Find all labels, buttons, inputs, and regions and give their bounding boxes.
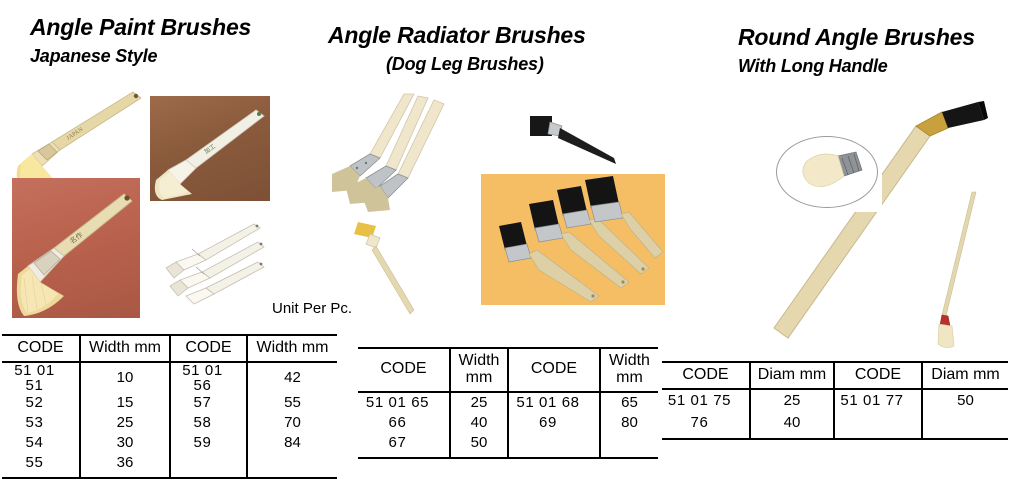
cell-width: 50 xyxy=(450,433,508,458)
cell-code: 52 xyxy=(2,393,80,413)
column-header-width-1: Width mm xyxy=(450,348,508,392)
table-bottom-rule xyxy=(2,478,337,499)
cell-width: 30 xyxy=(80,433,170,453)
unit-per-piece-note: Unit Per Pc. xyxy=(272,300,352,317)
cell-width: 84 xyxy=(247,433,337,453)
table-row: 54 30 59 84 xyxy=(2,433,337,453)
table-row: 66 40 69 80 xyxy=(358,413,658,433)
photo-radiator-brushes-trio xyxy=(330,92,490,222)
column-header-code-1: CODE xyxy=(662,362,750,389)
cell-code xyxy=(170,453,247,478)
section-subtitle-angle-paint: Japanese Style xyxy=(30,46,157,67)
cell-width: 55 xyxy=(247,393,337,413)
cell-code: 51 01 75 xyxy=(662,389,750,412)
table-row: 52 15 57 55 xyxy=(2,393,337,413)
cell-code: 51 01 56 xyxy=(170,362,247,393)
cell-width: 15 xyxy=(80,393,170,413)
table-bottom-rule xyxy=(662,439,1008,462)
column-header-diam-1: Diam mm xyxy=(750,362,834,389)
cell-diam xyxy=(922,412,1008,439)
table-row: 51 01 75 25 51 01 77 50 xyxy=(662,389,1008,412)
cell-width: 80 xyxy=(600,413,658,433)
column-header-code-2: CODE xyxy=(170,335,247,362)
cell-width: 40 xyxy=(450,413,508,433)
table-row: 55 36 xyxy=(2,453,337,478)
table-row: 67 50 xyxy=(358,433,658,458)
photo-angle-paint-brush-red-table: 名作 xyxy=(12,178,140,318)
cell-code: 51 01 68 xyxy=(508,392,600,413)
cell-code: 51 01 51 xyxy=(2,362,80,393)
photo-radiator-brush-black xyxy=(512,112,622,174)
column-header-code-1: CODE xyxy=(2,335,80,362)
section-subtitle-round-angle: With Long Handle xyxy=(738,56,888,77)
cell-code: 55 xyxy=(2,453,80,478)
cell-diam: 50 xyxy=(922,389,1008,412)
column-header-width-2: Width mm xyxy=(247,335,337,362)
cell-code: 66 xyxy=(358,413,450,433)
cell-width: 70 xyxy=(247,413,337,433)
column-header-diam-2: Diam mm xyxy=(922,362,1008,389)
cell-code: 51 01 65 xyxy=(358,392,450,413)
photo-angle-paint-brushes-trio xyxy=(158,216,268,306)
cell-diam: 40 xyxy=(750,412,834,439)
inset-oval-outline xyxy=(776,136,878,208)
cell-width: 42 xyxy=(247,362,337,393)
cell-code: 58 xyxy=(170,413,247,433)
section-title-angle-paint: Angle Paint Brushes xyxy=(30,14,251,41)
section-subtitle-angle-radiator: (Dog Leg Brushes) xyxy=(386,54,544,75)
cell-code: 67 xyxy=(358,433,450,458)
table-angle-paint-brushes: CODE Width mm CODE Width mm 51 01 51 10 … xyxy=(2,334,337,499)
table-angle-radiator-brushes: CODE Width mm CODE Width mm 51 01 65 25 … xyxy=(358,347,658,479)
cell-code: 59 xyxy=(170,433,247,453)
cell-code: 51 01 77 xyxy=(834,389,922,412)
table-row: 53 25 58 70 xyxy=(2,413,337,433)
photo-radiator-brush-stick xyxy=(352,218,432,318)
cell-code: 57 xyxy=(170,393,247,413)
column-header-code-1: CODE xyxy=(358,348,450,392)
table-round-angle-brushes: CODE Diam mm CODE Diam mm 51 01 75 25 51… xyxy=(662,361,1008,462)
cell-code: 76 xyxy=(662,412,750,439)
table-bottom-rule xyxy=(358,458,658,479)
cell-code xyxy=(834,412,922,439)
section-title-angle-radiator: Angle Radiator Brushes xyxy=(328,22,586,49)
photo-radiator-brushes-orange-background xyxy=(481,174,665,305)
cell-width xyxy=(247,453,337,478)
cell-code xyxy=(508,433,600,458)
column-header-width-1: Width mm xyxy=(80,335,170,362)
cell-width: 25 xyxy=(450,392,508,413)
cell-width: 25 xyxy=(80,413,170,433)
cell-diam: 25 xyxy=(750,389,834,412)
cell-width: 10 xyxy=(80,362,170,393)
cell-code: 54 xyxy=(2,433,80,453)
table-row: 51 01 65 25 51 01 68 65 xyxy=(358,392,658,413)
cell-code: 69 xyxy=(508,413,600,433)
table-row: 51 01 51 10 51 01 56 42 xyxy=(2,362,337,393)
cell-width: 65 xyxy=(600,392,658,413)
column-header-width-2: Width mm xyxy=(600,348,658,392)
cell-code: 53 xyxy=(2,413,80,433)
photo-angle-paint-brush-brown-table: 加工 xyxy=(150,96,270,201)
column-header-code-2: CODE xyxy=(834,362,922,389)
table-row: 76 40 xyxy=(662,412,1008,439)
photo-round-angle-brush-thin-handle xyxy=(930,190,1000,350)
section-title-round-angle: Round Angle Brushes xyxy=(738,24,975,51)
cell-width: 36 xyxy=(80,453,170,478)
column-header-code-2: CODE xyxy=(508,348,600,392)
cell-width xyxy=(600,433,658,458)
photo-round-brush-head-detail-inset xyxy=(772,132,882,212)
